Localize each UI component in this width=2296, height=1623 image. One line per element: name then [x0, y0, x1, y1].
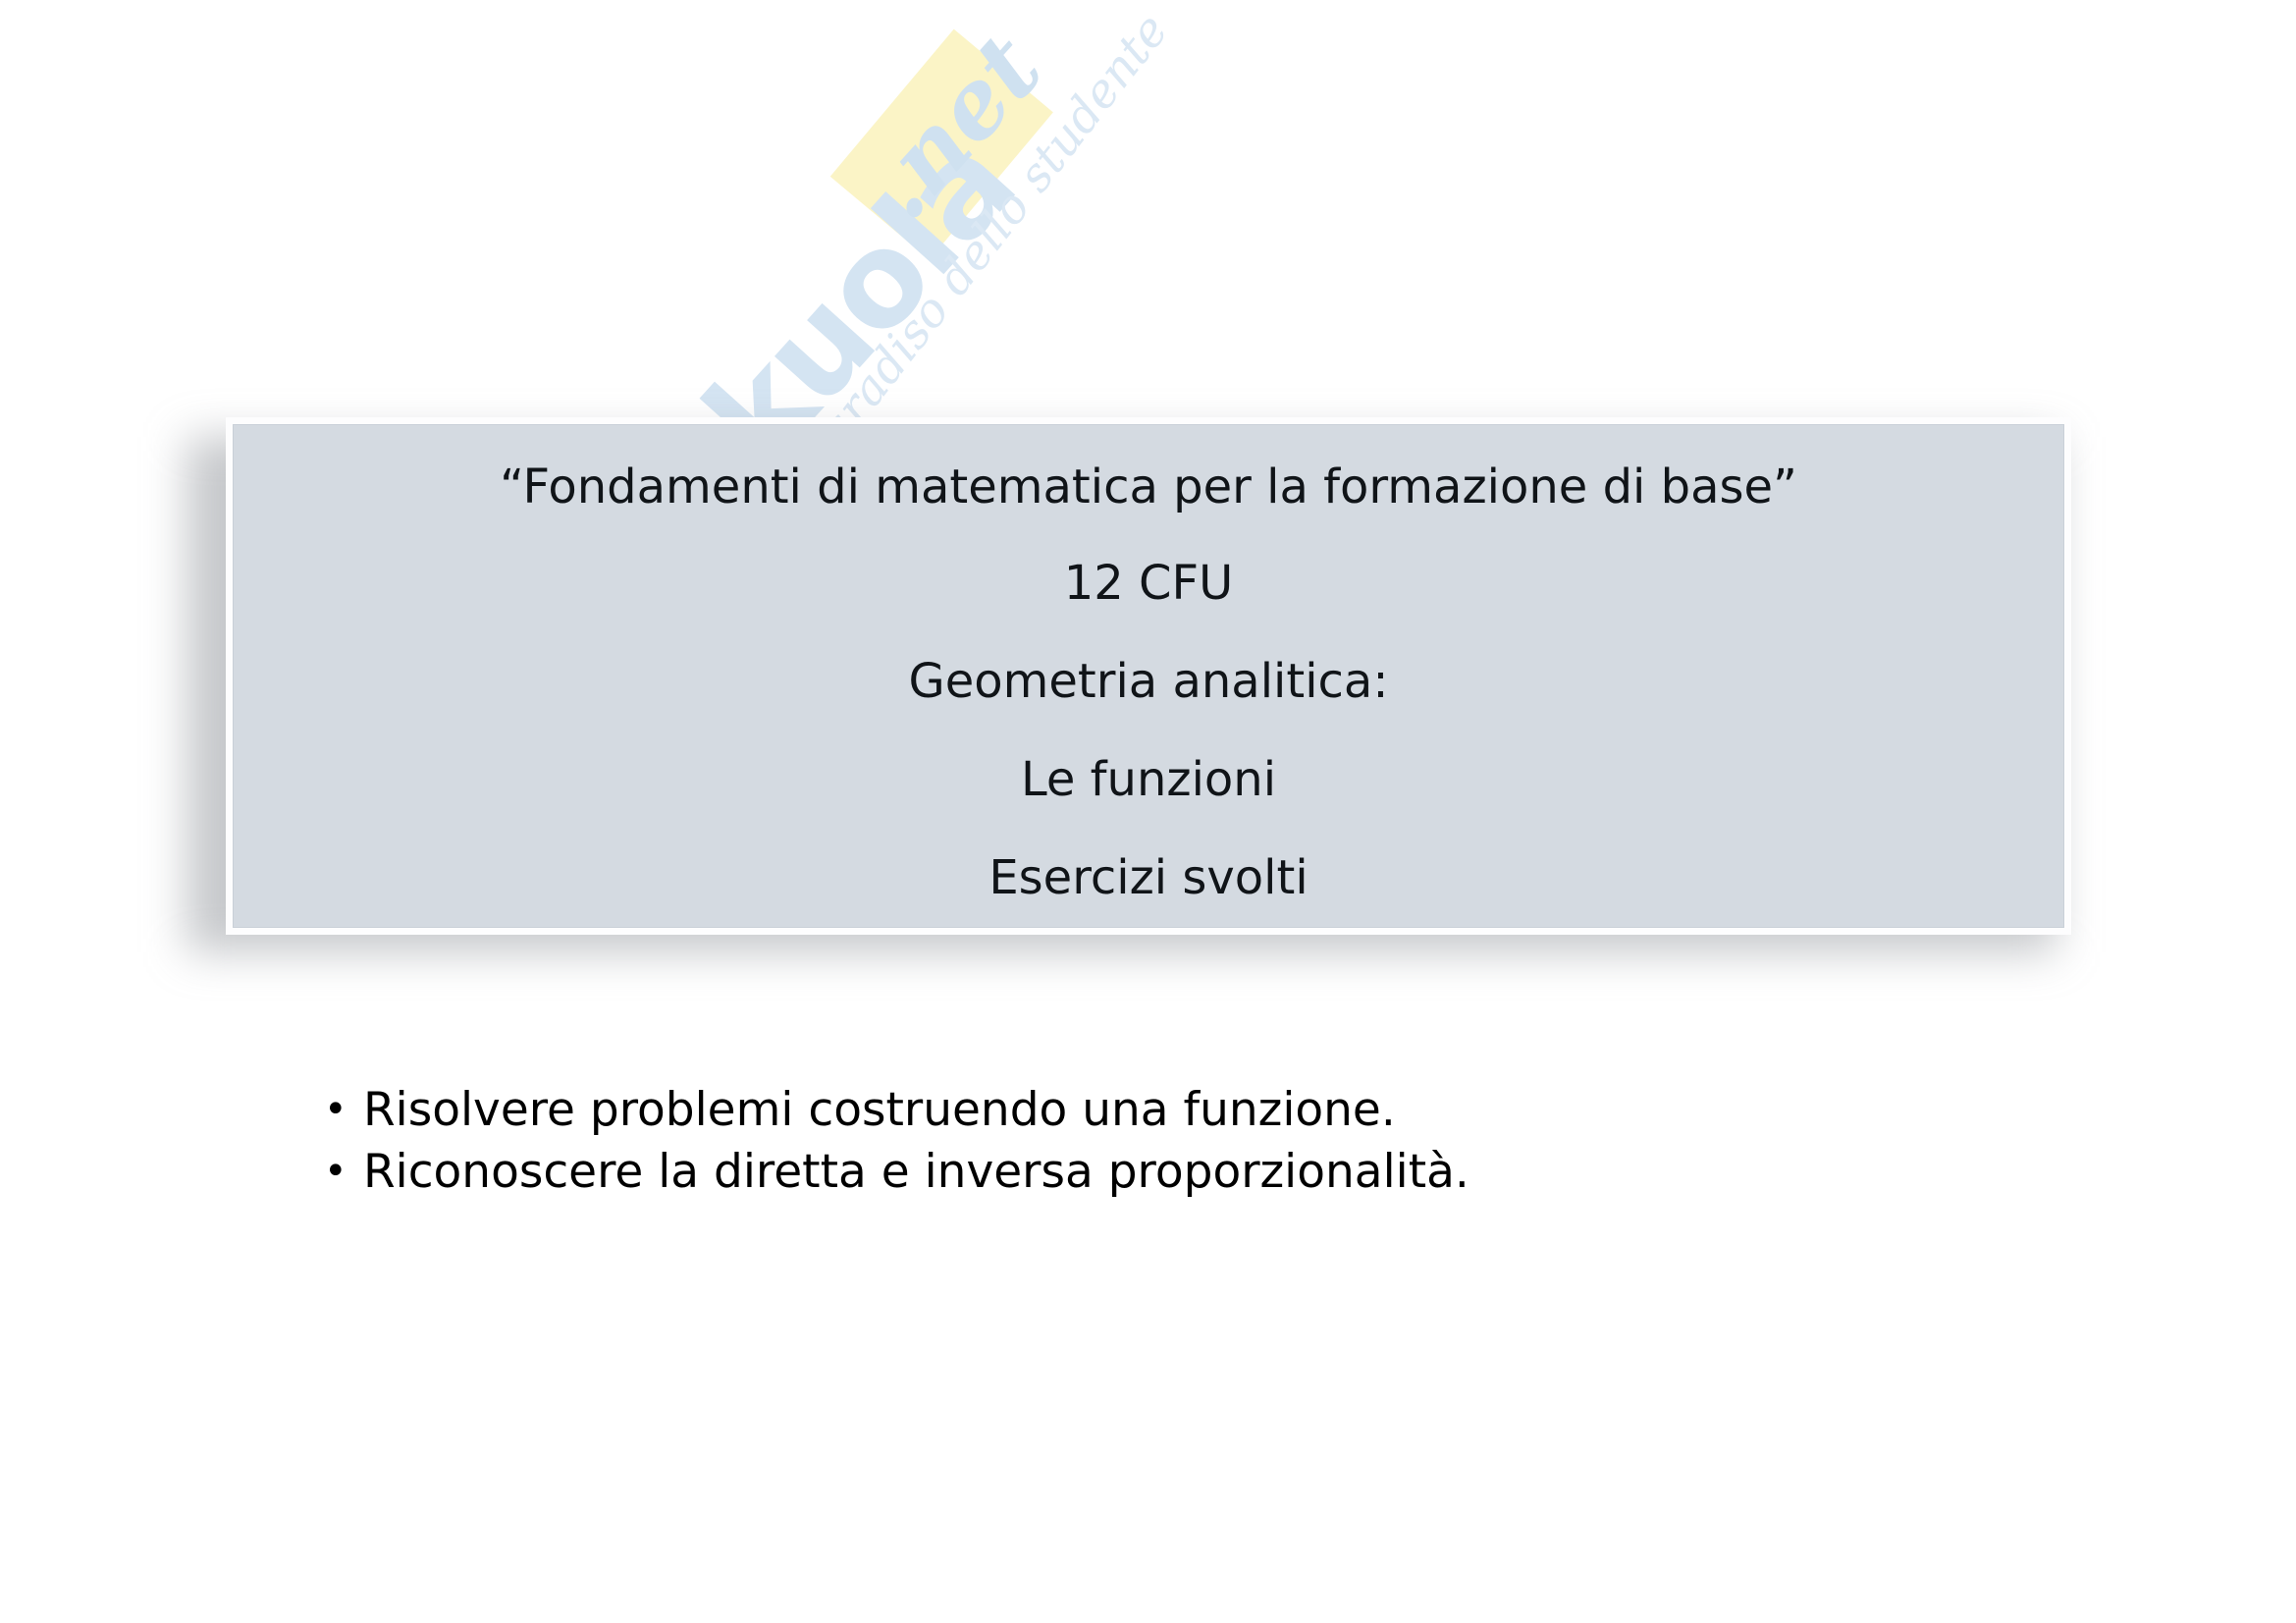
skuola-net-watermark: skuola .net il paradiso dello studente [599, 20, 1148, 432]
watermark-highlight-box [830, 29, 1053, 260]
bullet-dot-icon: • [324, 1080, 363, 1139]
list-item-label: Risolvere problemi costruendo una funzio… [363, 1080, 1396, 1142]
title-line-course-name: “Fondamenti di matematica per la formazi… [233, 463, 2064, 511]
title-line-subtopic: Le funzioni [233, 756, 2064, 803]
watermark-domain-text: .net [850, 20, 1057, 235]
list-item: • Risolvere problemi costruendo una funz… [324, 1080, 1469, 1142]
title-line-credits: 12 CFU [233, 560, 2064, 607]
title-line-exercises: Esercizi svolti [233, 854, 2064, 901]
list-item-label: Riconoscere la diretta e inversa proporz… [363, 1142, 1469, 1204]
title-line-topic: Geometria analitica: [233, 658, 2064, 705]
bullet-dot-icon: • [324, 1142, 363, 1201]
objectives-list: • Risolvere problemi costruendo una funz… [324, 1080, 1469, 1204]
title-box: “Fondamenti di matematica per la formazi… [226, 417, 2071, 935]
list-item: • Riconoscere la diretta e inversa propo… [324, 1142, 1469, 1204]
